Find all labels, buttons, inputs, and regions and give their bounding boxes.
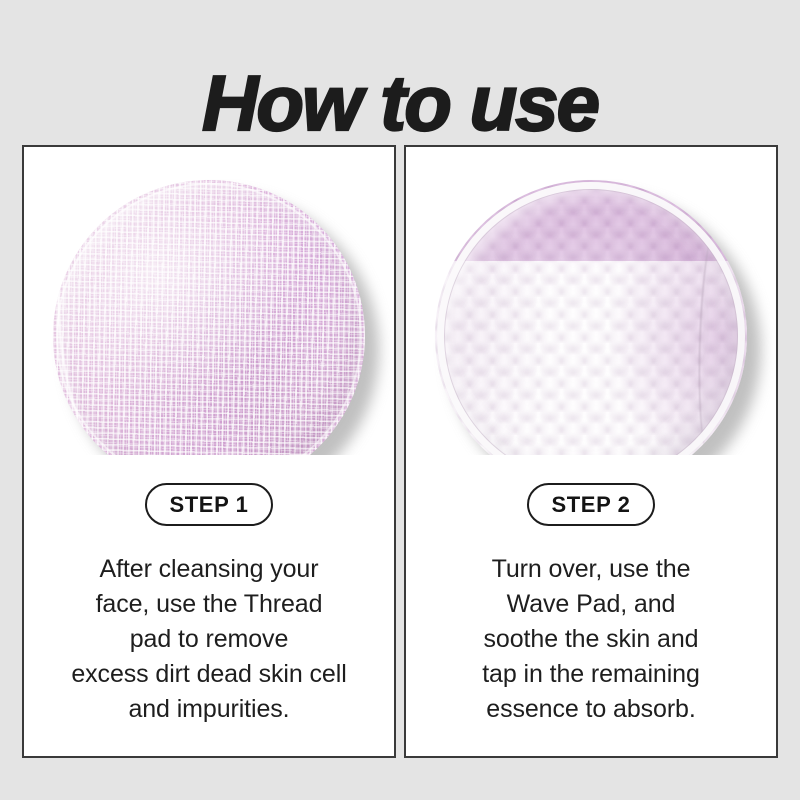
page-title: How to use	[0, 62, 800, 144]
wave-pad-disc	[435, 180, 747, 455]
step-1-caption: STEP 1 After cleansing your face, use th…	[24, 455, 394, 756]
step-panel-2: STEP 2 Turn over, use the Wave Pad, and …	[404, 145, 778, 758]
pad-rim-edge	[56, 183, 362, 455]
thread-pad-photo	[24, 147, 394, 455]
step-badge-1: STEP 1	[145, 483, 272, 526]
thread-pad-disc	[53, 180, 365, 455]
step-panel-1: STEP 1 After cleansing your face, use th…	[22, 145, 396, 758]
thread-pad-figure	[53, 180, 365, 455]
step-description-1: After cleansing your face, use the Threa…	[36, 552, 382, 727]
pad-fold-crease	[53, 191, 182, 455]
wave-dot-texture-row-b	[435, 180, 747, 455]
step-description-2: Turn over, use the Wave Pad, and soothe …	[418, 552, 764, 727]
wave-pad-figure	[435, 180, 747, 455]
step-badge-2: STEP 2	[527, 483, 654, 526]
wave-pad-photo	[406, 147, 776, 455]
step-2-caption: STEP 2 Turn over, use the Wave Pad, and …	[406, 455, 776, 756]
steps-container: STEP 1 After cleansing your face, use th…	[22, 145, 778, 758]
